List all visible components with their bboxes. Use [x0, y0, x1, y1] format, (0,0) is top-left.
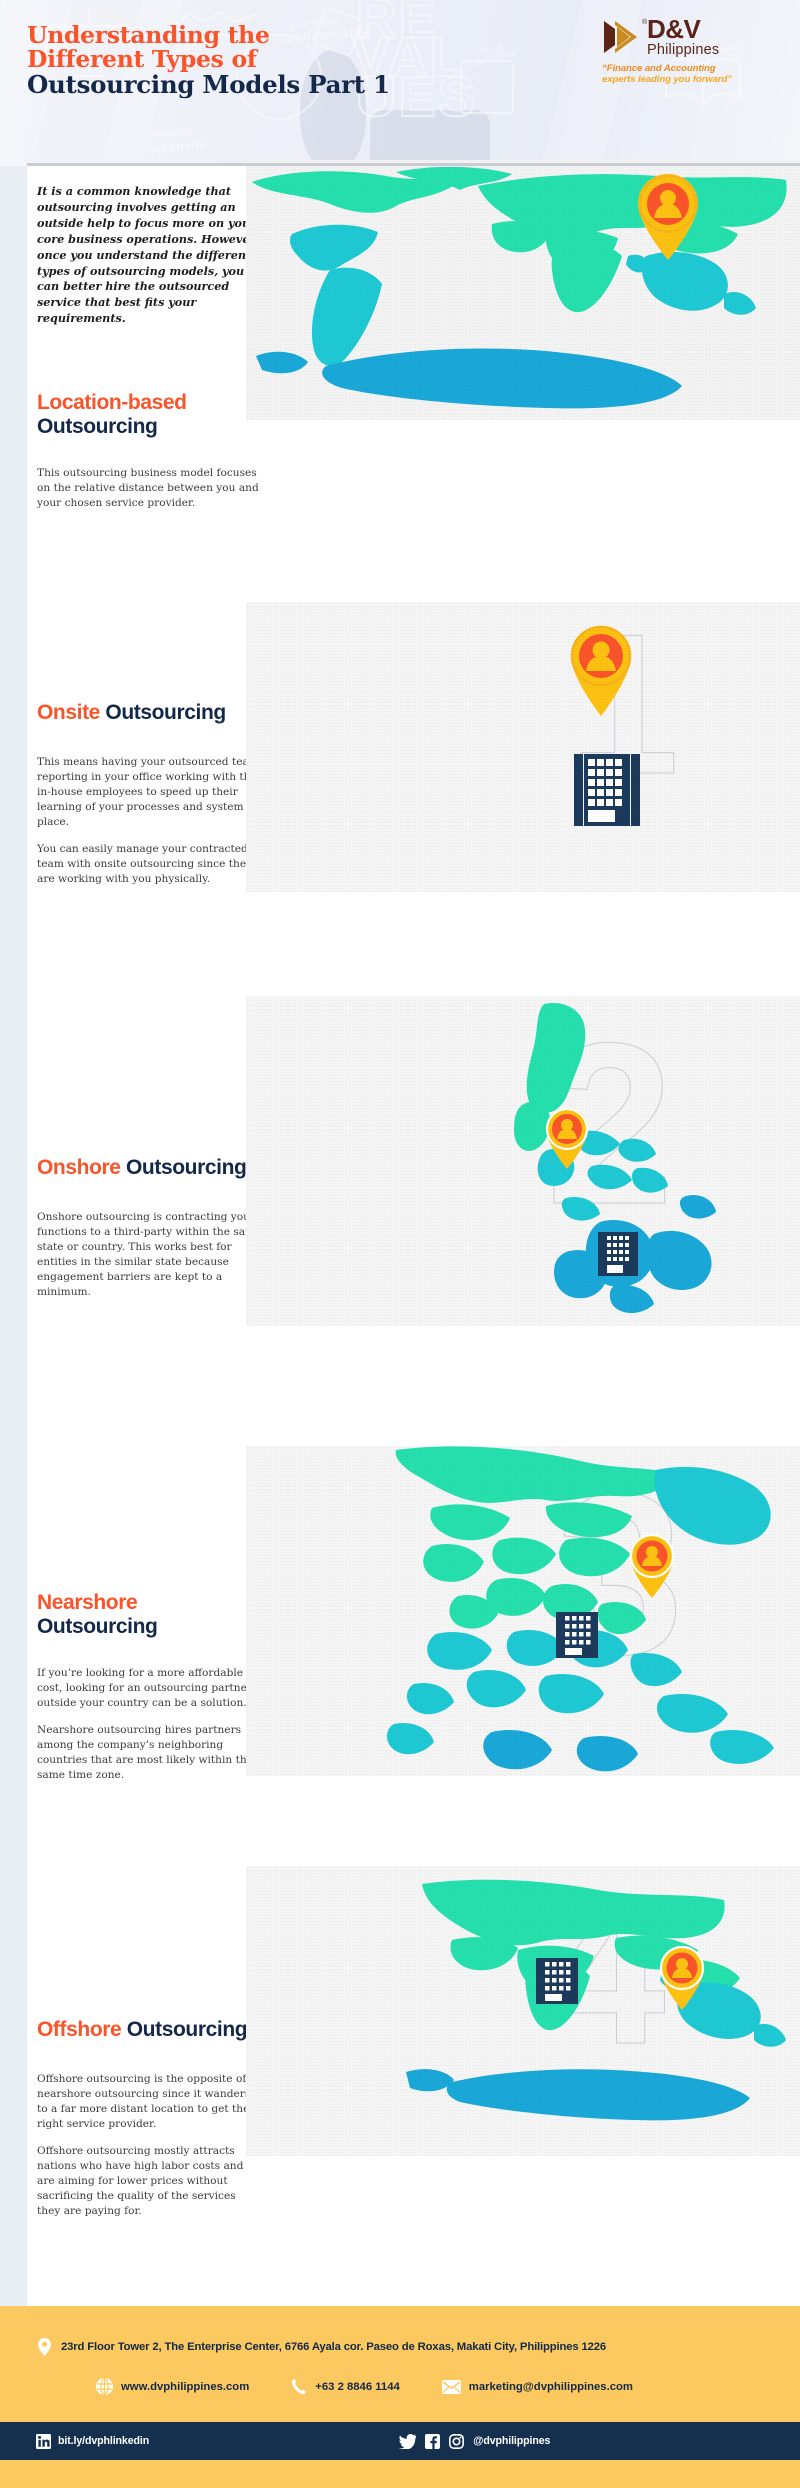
email-text: marketing@dvphilippines.com	[469, 2381, 633, 2393]
logo-name: D&V	[647, 16, 719, 42]
art-world-map	[246, 160, 800, 420]
social-handles[interactable]: @dvphilippines	[399, 2434, 550, 2449]
intro-text: It is a common knowledge that outsourcin…	[37, 184, 262, 327]
header: RE VAL UES owning practicing Confidentia…	[0, 0, 800, 166]
address-row: 23rd Floor Tower 2, The Enterprise Cente…	[38, 2338, 606, 2356]
art-asia-map: 3	[246, 1446, 800, 1776]
logo-tagline-line2: experts leading you forward”	[602, 74, 782, 86]
heading-onshore: Onshore Outsourcing	[37, 1156, 262, 1180]
heading-main: Outsourcing	[37, 415, 262, 439]
art-onsite-building: 1	[246, 602, 800, 892]
section-paragraph: Offshore outsourcing mostly attracts nat…	[37, 2144, 262, 2219]
location-pin-icon	[38, 2338, 51, 2356]
title-line-3: Outsourcing Models Part 1	[27, 72, 390, 97]
office-building-icon	[574, 754, 640, 826]
envelope-icon	[442, 2380, 461, 2394]
phone-icon	[291, 2378, 307, 2395]
heading-accent: Offshore	[37, 2018, 121, 2041]
heading-nearshore: Nearshore Outsourcing	[37, 1591, 262, 1638]
heading-accent: Onshore	[37, 1156, 121, 1179]
logo-tagline: “Finance and Accounting experts leading …	[602, 63, 782, 87]
left-accent-bar	[0, 166, 27, 2306]
footer-social-bar: bit.ly/dvphlinkedin @	[0, 2422, 800, 2460]
facebook-icon[interactable]	[425, 2434, 440, 2449]
logo-tagline-line1: “Finance and Accounting	[602, 63, 782, 75]
office-building-icon	[598, 1232, 638, 1276]
contact-links-row: www.dvphilippines.com +63 2 8846 1144	[96, 2378, 633, 2395]
art-philippines-map: 2	[246, 996, 800, 1326]
registered-mark: ®	[642, 19, 647, 26]
address-text: 23rd Floor Tower 2, The Enterprise Cente…	[61, 2341, 606, 2353]
location-pin-icon	[658, 1944, 706, 2014]
location-pin-icon	[544, 1106, 590, 1172]
social-handle-text: @dvphilippines	[473, 2435, 550, 2447]
location-pin-icon	[568, 624, 634, 720]
linkedin-link[interactable]: bit.ly/dvphlinkedin	[36, 2434, 149, 2449]
office-building-icon	[556, 1612, 598, 1658]
website-link[interactable]: www.dvphilippines.com	[96, 2378, 249, 2395]
globe-icon	[96, 2378, 113, 2395]
page-title: Understanding the Different Types of Out…	[27, 24, 390, 97]
section-paragraph: If you’re looking for a more affordable …	[37, 1666, 262, 1711]
phone-text: +63 2 8846 1144	[315, 2381, 400, 2393]
heading-main: Outsourcing	[105, 701, 225, 724]
office-building-icon	[536, 1958, 578, 2004]
heading-accent: Nearshore	[37, 1591, 262, 1615]
heading-offshore: Offshore Outsourcing	[37, 2018, 262, 2042]
section-paragraph: You can easily manage your contracted te…	[37, 842, 262, 887]
dv-play-triangle-icon: ®	[602, 19, 640, 55]
heading-onsite: Onsite Outsourcing	[37, 701, 262, 725]
twitter-icon[interactable]	[399, 2434, 416, 2449]
email-link[interactable]: marketing@dvphilippines.com	[442, 2380, 633, 2394]
heading-accent: Location-based	[37, 391, 262, 415]
heading-main: Outsourcing	[37, 1615, 262, 1639]
website-text: www.dvphilippines.com	[121, 2381, 249, 2393]
section-paragraph: This outsourcing business model focuses …	[37, 466, 262, 511]
phone-link[interactable]: +63 2 8846 1144	[291, 2378, 400, 2395]
art-offshore-world-map: 4	[246, 1866, 800, 2156]
linkedin-icon	[36, 2434, 51, 2449]
footer-bottom-strip	[0, 2460, 800, 2488]
title-line-2: Different Types of	[27, 48, 390, 72]
instagram-icon[interactable]	[449, 2434, 464, 2449]
heading-main: Outsourcing	[126, 1156, 246, 1179]
footer-contact-bar: 23rd Floor Tower 2, The Enterprise Cente…	[0, 2306, 800, 2422]
location-pin-icon	[628, 1532, 676, 1602]
linkedin-text: bit.ly/dvphlinkedin	[58, 2435, 149, 2447]
brand-logo[interactable]: ® D&V Philippines “Finance and Accountin…	[602, 16, 782, 86]
heading-location-based: Location-based Outsourcing	[37, 391, 262, 438]
section-paragraph: Nearshore outsourcing hires partners amo…	[37, 1723, 262, 1783]
section-paragraph: Offshore outsourcing is the opposite of …	[37, 2072, 262, 2132]
header-divider	[27, 163, 800, 166]
content-area: It is a common knowledge that outsourcin…	[0, 166, 800, 2306]
logo-subtitle: Philippines	[647, 43, 719, 58]
section-paragraph: This means having your outsourced team r…	[37, 755, 262, 830]
infographic-page: RE VAL UES owning practicing Confidentia…	[0, 0, 800, 2488]
section-paragraph: Onshore outsourcing is contracting your …	[37, 1210, 262, 1300]
heading-accent: Onsite	[37, 701, 100, 724]
heading-main: Outsourcing	[127, 2018, 247, 2041]
